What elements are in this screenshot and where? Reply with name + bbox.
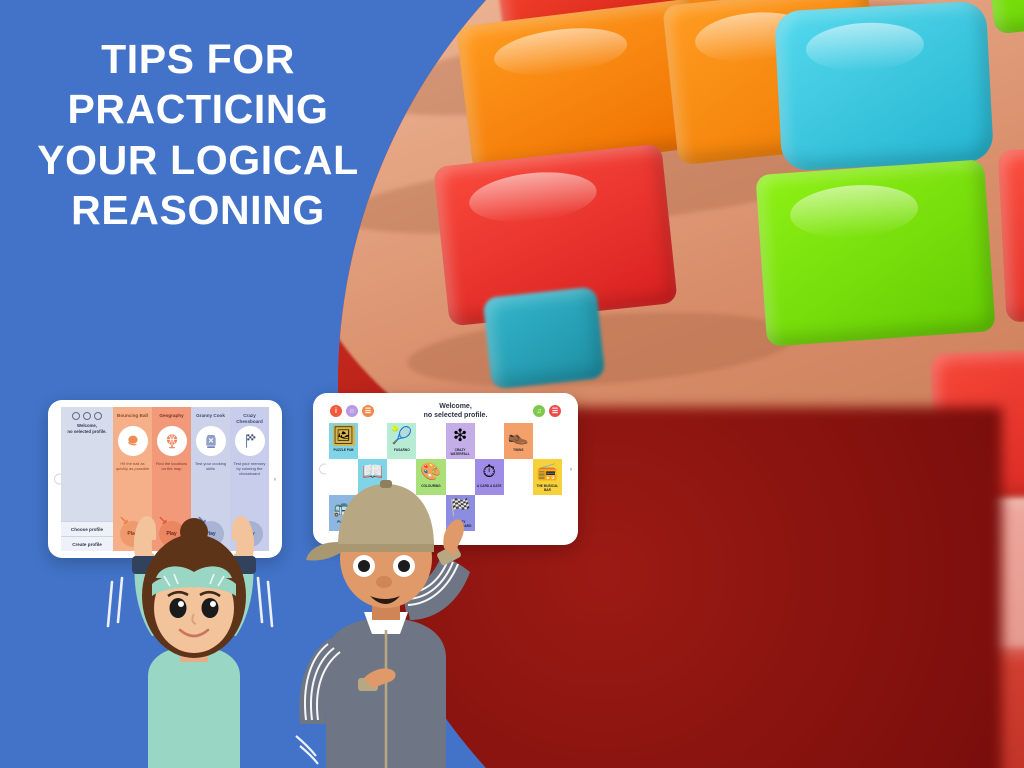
cap-crown	[338, 484, 434, 546]
game-tile-label: THE MUSICAL BAR	[533, 484, 562, 492]
title-line-4: REASONING	[0, 185, 396, 235]
girl-shirt	[148, 646, 240, 768]
game-tile[interactable]: ❇CRAZY WATERFALL	[446, 423, 475, 459]
ball-icon	[118, 426, 148, 456]
info-icon[interactable]	[72, 412, 80, 420]
game-tile-label: PUZZLE PUB	[334, 448, 354, 452]
game-tile-label: TWINS	[513, 448, 523, 452]
page-title: TIPS FOR PRACTICING YOUR LOGICAL REASONI…	[0, 34, 396, 236]
game-tile-body: 📻THE MUSICAL BAR	[533, 459, 562, 495]
camera-icon	[274, 478, 277, 481]
boy-pointing-character	[286, 462, 486, 768]
grid-header: i ☺ ☰ Welcome, no selected profile. ♫ ☰	[326, 400, 565, 423]
game-tile[interactable]: 🎾FUSARNO	[387, 423, 416, 459]
game-tile-label: CRAZY WATERFALL	[446, 448, 475, 456]
info-icon[interactable]: i	[330, 405, 342, 417]
settings-icon[interactable]	[94, 412, 102, 420]
profile-panel-icons	[72, 412, 102, 420]
sound-icon[interactable]: ♫	[533, 405, 545, 417]
game-tile-artwork: 👞	[507, 425, 529, 446]
boy-nose	[376, 576, 392, 588]
checkered-flag-icon	[235, 426, 265, 456]
cubie-teal	[482, 287, 605, 390]
welcome-text: Welcome, no selected profile.	[67, 423, 106, 435]
welcome-line-1: Welcome,	[378, 402, 533, 411]
game-tile-body: 🎾FUSARNO	[387, 423, 416, 459]
game-tile-body: 🖼PUZZLE PUB	[329, 423, 358, 459]
welcome-line-2: no selected profile.	[378, 411, 533, 420]
game-tile-body: ❇CRAZY WATERFALL	[446, 423, 475, 459]
girl-cheering-character	[96, 516, 292, 768]
cap-button	[380, 480, 392, 488]
profiles-icon[interactable]: ☺	[346, 405, 358, 417]
game-card-title: Granny Cook	[196, 413, 225, 425]
globe-icon[interactable]	[83, 412, 91, 420]
camera-icon	[570, 468, 573, 471]
cubie-cyan	[774, 1, 994, 172]
game-tile[interactable]: 📻THE MUSICAL BAR	[533, 459, 562, 495]
header-right-icons: ♫ ☰	[533, 405, 561, 417]
game-tile-artwork: ❇	[449, 425, 471, 446]
menu-icon[interactable]: ☰	[549, 405, 561, 417]
game-card-description: Test your memory by coloring the chessbo…	[230, 461, 269, 477]
stats-icon[interactable]: ☰	[362, 405, 374, 417]
game-card-description: Test your cooking skills	[191, 461, 230, 471]
game-tile-artwork: 🎾	[391, 425, 413, 446]
game-tile-body: 👞TWINS	[504, 423, 533, 459]
globe-icon	[157, 426, 187, 456]
title-line-1: TIPS FOR	[0, 34, 396, 84]
apron-icon	[196, 426, 226, 456]
title-line-3: YOUR LOGICAL	[0, 135, 396, 185]
game-tile[interactable]: 🖼PUZZLE PUB	[329, 423, 358, 459]
game-card-description: Find the locations on the map	[152, 461, 191, 471]
game-tile-label: FUSARNO	[394, 448, 410, 452]
cap-brim	[306, 542, 342, 561]
title-line-2: PRACTICING	[0, 84, 396, 134]
motion-lines	[296, 736, 318, 764]
poster-canvas: TIPS FOR PRACTICING YOUR LOGICAL REASONI…	[0, 0, 1024, 768]
game-card-title: Bouncing Ball	[117, 413, 148, 425]
game-tile-artwork: 🖼	[333, 425, 355, 446]
game-card-description: Hit the ball as quickly as possible	[113, 461, 152, 471]
game-tile[interactable]: 👞TWINS	[504, 423, 533, 459]
cap-band	[338, 544, 434, 552]
welcome-line-2: no selected profile.	[67, 429, 106, 435]
game-card-title: Crazy Chessboard	[230, 413, 269, 425]
welcome-text: Welcome, no selected profile.	[378, 402, 533, 420]
game-tile-artwork: 📻	[536, 461, 558, 482]
cubie-green	[756, 159, 996, 346]
game-card-title: Geography	[159, 413, 183, 425]
